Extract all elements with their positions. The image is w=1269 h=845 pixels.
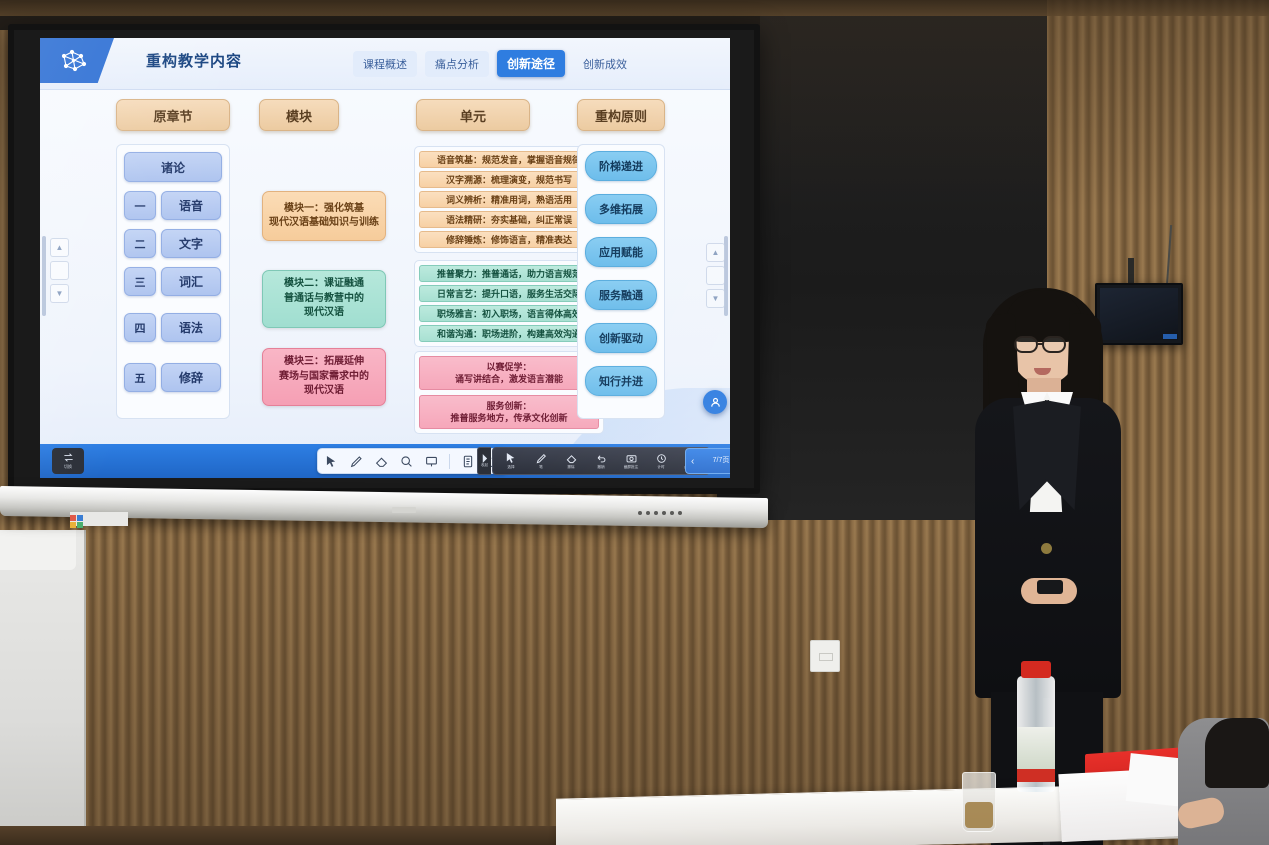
dock-clock-icon[interactable]: 计时	[646, 453, 676, 470]
pen-icon[interactable]	[349, 454, 364, 469]
module-1-line-1: 现代汉语基础知识与训练	[269, 216, 379, 231]
assistant-icon[interactable]	[703, 390, 727, 414]
glasses-icon	[1042, 336, 1066, 353]
dock-eraser-icon[interactable]: 擦除	[556, 453, 586, 470]
left-white-wall	[0, 530, 86, 845]
scrollbar-left[interactable]	[42, 236, 46, 316]
floating-tool-dock[interactable]: 选择 笔 擦除 撤销 截屏批注	[492, 447, 710, 475]
dock-collapse-handle[interactable]: 收起	[477, 447, 491, 475]
chapter-num-5: 五	[124, 363, 156, 392]
column-header-principle: 重构原则	[577, 99, 665, 131]
presentation-clicker	[1037, 580, 1063, 594]
interactive-whiteboard[interactable]: 重构教学内容 课程概述 痛点分析 创新途径 创新成效 原章节 模块 单元 重构原…	[8, 24, 760, 519]
chapter-num-4: 四	[124, 313, 156, 342]
chapter-name-5: 修辞	[161, 363, 221, 392]
tea-cup	[962, 772, 996, 832]
slide-tabs[interactable]: 课程概述 痛点分析 创新途径 创新成效	[353, 50, 637, 77]
chevron-left-icon[interactable]: ‹	[691, 456, 694, 467]
dock-label: 擦除	[567, 465, 574, 470]
tab-course-overview[interactable]: 课程概述	[353, 51, 417, 77]
slide-title: 重构教学内容	[146, 50, 242, 71]
page-indicator: 7/7页	[713, 457, 730, 465]
whiteboard-center-badge	[392, 507, 416, 513]
unit-item: 服务创新： 推普服务地方，传承文化创新	[419, 395, 599, 429]
swap-icon[interactable]: 切换	[52, 448, 84, 474]
unit-item: 词义辨析：精准用词，熟语活用	[419, 191, 599, 208]
left-white-ledge	[0, 530, 76, 570]
glasses-icon	[1014, 336, 1038, 353]
unit-item: 日常言艺：提升口语，服务生活交际	[419, 285, 599, 302]
floor-line	[0, 826, 560, 845]
principle-item-1: 阶梯递进	[585, 151, 657, 181]
module-card-1: 模块一：强化筑基 现代汉语基础知识与训练	[262, 191, 386, 241]
module-3-title: 模块三：拓展延伸	[284, 355, 364, 370]
dock-pen-icon[interactable]: 笔	[526, 453, 556, 470]
whiteboard-brand-logo	[70, 512, 128, 526]
unit-head: 服务创新：	[486, 400, 531, 412]
unit-item: 修辞锤炼：修饰语言，精准表达	[419, 231, 599, 248]
list-icon[interactable]	[460, 454, 475, 469]
principle-item-2: 多维拓展	[585, 194, 657, 224]
dock-label: 笔	[539, 465, 543, 470]
dock-handle-label: 收起	[481, 463, 488, 468]
triangle-down-icon[interactable]: ▼	[50, 284, 69, 303]
chapter-name-4: 语法	[161, 313, 221, 342]
page-text: 7/7页	[713, 457, 730, 464]
page-navigator[interactable]: ‹ 7/7页 ›	[685, 448, 730, 474]
cursor-icon[interactable]	[324, 454, 339, 469]
dock-camera-icon[interactable]: 截屏批注	[616, 453, 646, 470]
tab-pain-point-analysis[interactable]: 痛点分析	[425, 51, 489, 77]
unit-body: 诵写讲结合，激发语言潜能	[455, 373, 563, 385]
module-2-line-1: 普通话与教营中的	[284, 292, 364, 307]
toolbar-divider	[449, 454, 450, 469]
unit-item: 和谐沟通：职场进阶，构建高效沟通	[419, 325, 599, 342]
dock-label: 撤销	[597, 465, 604, 470]
unit-head: 以赛促学：	[486, 361, 531, 373]
scroll-track-thumb[interactable]	[50, 261, 69, 280]
module-card-2: 模块二：课证融通 普通话与教营中的 现代汉语	[262, 270, 386, 328]
chapter-intro: 诸论	[124, 152, 222, 182]
seated-attendee-hair	[1205, 718, 1269, 788]
dock-undo-icon[interactable]: 撤销	[586, 453, 616, 470]
wall-outlet	[810, 640, 840, 672]
magnifier-icon[interactable]	[399, 454, 414, 469]
tab-innovation-path[interactable]: 创新途径	[497, 50, 565, 77]
chapter-num-1: 一	[124, 191, 156, 220]
principle-item-5: 创新驱动	[585, 323, 657, 353]
whiteboard-screen[interactable]: 重构教学内容 课程概述 痛点分析 创新途径 创新成效 原章节 模块 单元 重构原…	[40, 38, 730, 478]
module-2-title: 模块二：课证融通	[284, 277, 364, 292]
whiteboard-bottom-bar: 切换	[40, 444, 730, 478]
dock-cursor-icon[interactable]: 选择	[496, 452, 526, 470]
triangle-down-icon[interactable]: ▼	[706, 289, 725, 308]
chapter-name-1: 语音	[161, 191, 221, 220]
molecule-network-icon	[40, 38, 114, 83]
unit-item: 语音筑基：规范发音，掌握语音规律	[419, 151, 599, 168]
module-2-line-2: 现代汉语	[304, 306, 344, 321]
module-3-line-1: 赛场与国家需求中的	[279, 370, 369, 385]
scroll-arrow-group-right[interactable]: ▲ ▼	[706, 243, 724, 312]
unit-group-foundation: 语音筑基：规范发音，掌握语音规律 汉字溯源：梳理演变，规范书写 词义辨析：精准用…	[414, 146, 604, 253]
module-3-line-2: 现代汉语	[304, 384, 344, 399]
water-bottle	[1017, 661, 1055, 792]
triangle-up-icon[interactable]: ▲	[50, 238, 69, 257]
triangle-up-icon[interactable]: ▲	[706, 243, 725, 262]
eraser-icon[interactable]	[374, 454, 389, 469]
column-header-module: 模块	[259, 99, 339, 131]
unit-item: 推普聚力：推普通话，助力语言规范	[419, 265, 599, 282]
module-card-3: 模块三：拓展延伸 赛场与国家需求中的 现代汉语	[262, 348, 386, 406]
chapter-name-2: 文字	[161, 229, 221, 258]
dock-label: 计时	[657, 465, 664, 470]
dock-label: 选择	[507, 465, 514, 470]
unit-group-extension: 以赛促学： 诵写讲结合，激发语言潜能 服务创新： 推普服务地方，传承文化创新	[414, 351, 604, 434]
unit-item: 汉字溯源：梳理演变，规范书写	[419, 171, 599, 188]
slide-header: 重构教学内容 课程概述 痛点分析 创新途径 创新成效	[40, 38, 730, 90]
unit-item: 职场雅言：初入职场，语言得体高效	[419, 305, 599, 322]
column-header-unit: 单元	[416, 99, 530, 131]
tab-innovation-result[interactable]: 创新成效	[573, 51, 637, 77]
chapter-num-3: 三	[124, 267, 156, 296]
jacket-button	[1041, 543, 1052, 554]
scroll-arrow-group[interactable]: ▲ ▼	[50, 238, 70, 307]
whiteboard-ports	[638, 510, 700, 516]
principle-item-6: 知行并进	[585, 366, 657, 396]
chapter-num-2: 二	[124, 229, 156, 258]
unit-body: 推普服务地方，传承文化创新	[450, 412, 567, 424]
unit-item: 语法精研：夯实基础，纠正常误	[419, 211, 599, 228]
principle-item-4: 服务融通	[585, 280, 657, 310]
chapter-name-3: 词汇	[161, 267, 221, 296]
screen-icon[interactable]	[424, 454, 439, 469]
principle-item-3: 应用赋能	[585, 237, 657, 267]
swap-label: 切换	[64, 464, 72, 470]
unit-item: 以赛促学： 诵写讲结合，激发语言潜能	[419, 356, 599, 390]
module-1-title: 模块一：强化筑基	[284, 202, 364, 217]
column-header-chapter: 原章节	[116, 99, 230, 131]
unit-group-integration: 推普聚力：推普通话，助力语言规范 日常言艺：提升口语，服务生活交际 职场雅言：初…	[414, 260, 604, 347]
dock-label: 截屏批注	[624, 465, 638, 470]
scroll-track-thumb[interactable]	[706, 266, 725, 285]
